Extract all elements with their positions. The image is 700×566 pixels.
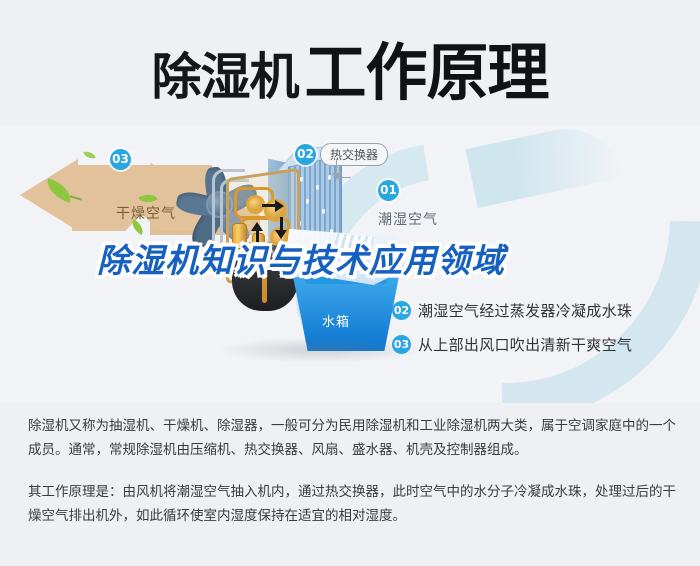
flow-arrow-stem-icon xyxy=(280,217,283,231)
overlay-headline: 除湿机知识与技术应用领域 xyxy=(97,243,617,280)
callout-tip-icon xyxy=(332,173,342,180)
flow-arrow-up-icon xyxy=(251,222,263,231)
page-root: 除湿机工作原理 干燥空气 xyxy=(0,0,700,566)
list-item: 03 从上部出风口吹出清新干爽空气 xyxy=(392,334,692,355)
page-title-part1: 除湿机 xyxy=(151,48,298,106)
heat-exchanger-callout: 热交换器 xyxy=(320,143,388,166)
flow-arrow-right-icon xyxy=(275,200,284,212)
page-title-part2: 工作原理 xyxy=(304,36,548,109)
bullet-badge-02: 02 xyxy=(392,301,411,320)
paragraph-1: 除湿机又称为抽湿机、干燥机、除湿器，一般可分为民用除湿机和工业除湿机两大类，属于… xyxy=(28,414,676,462)
bullet-badge-03: 03 xyxy=(392,335,411,354)
humid-air-label: 潮湿空气 xyxy=(378,209,438,229)
bullet-text-03: 从上部出风口吹出清新干爽空气 xyxy=(418,334,632,355)
diagram-badge-02: 02 xyxy=(295,144,316,165)
paragraph-2: 其工作原理是：由风机将潮湿空气抽入机内，通过热交换器，此时空气中的水分子冷凝成水… xyxy=(28,480,676,528)
flow-arrow-stem-icon xyxy=(262,204,276,207)
dry-air-label: 干燥空气 xyxy=(116,203,176,223)
water-tank-label: 水箱 xyxy=(322,311,350,330)
flow-arrow-down-icon xyxy=(275,230,287,239)
body-copy: 除湿机又称为抽湿机、干燥机、除湿器，一般可分为民用除湿机和工业除湿机两大类，属于… xyxy=(28,414,676,546)
diagram-badge-01: 01 xyxy=(378,180,399,201)
page-title: 除湿机工作原理 xyxy=(0,22,700,112)
list-item: 02 潮湿空气经过蒸发器冷凝成水珠 xyxy=(392,300,692,321)
bullet-text-02: 潮湿空气经过蒸发器冷凝成水珠 xyxy=(418,300,632,321)
diagram-badge-03: 03 xyxy=(110,149,131,170)
process-steps-list: 02 潮湿空气经过蒸发器冷凝成水珠 03 从上部出风口吹出清新干爽空气 xyxy=(392,300,692,368)
leaf-icon xyxy=(83,150,95,160)
